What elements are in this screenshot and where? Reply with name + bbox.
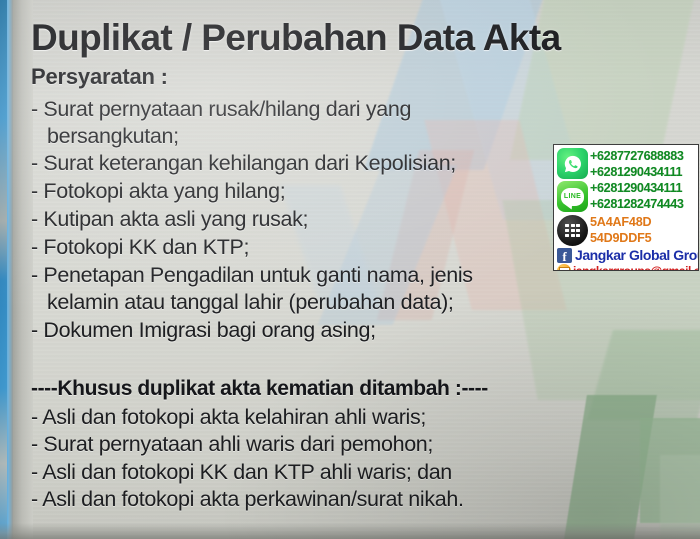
poster-photo: Duplikat / Perubahan Data Akta Persyarat… bbox=[0, 0, 700, 539]
requirement-item: - Penetapan Pengadilan untuk ganti nama,… bbox=[31, 263, 473, 288]
contact-overlay-box: LINE f +6287727688883 +6281290434111 +62… bbox=[553, 144, 699, 271]
requirement-item: kelamin atau tanggal lahir (perubahan da… bbox=[47, 290, 454, 315]
requirement-item: - Kutipan akta asli yang rusak; bbox=[31, 207, 308, 232]
requirement-item: bersangkutan; bbox=[47, 124, 179, 149]
phone-number: +6287727688883 bbox=[590, 149, 684, 163]
requirement-item: - Fotokopi KK dan KTP; bbox=[31, 235, 249, 260]
requirement-item: - Surat keterangan kehilangan dari Kepol… bbox=[31, 151, 456, 176]
bbm-pin: 54D9DDF5 bbox=[590, 231, 651, 245]
extra-requirement-item: - Asli dan fotokopi akta kelahiran ahli … bbox=[31, 405, 426, 430]
blackberry-messenger-icon bbox=[557, 215, 588, 246]
extra-requirement-item: - Asli dan fotokopi akta perkawinan/sura… bbox=[31, 487, 464, 512]
facebook-icon: f bbox=[557, 248, 572, 263]
line-icon-label: LINE bbox=[564, 193, 581, 200]
facebook-icon-glyph: f bbox=[562, 250, 566, 263]
phone-number: +6281282474443 bbox=[590, 197, 684, 211]
email-address: jangkargroups@gmail.com bbox=[573, 264, 699, 271]
section-heading: ----Khusus duplikat akta kematian ditamb… bbox=[31, 377, 488, 401]
extra-requirement-item: - Surat pernyataan ahli waris dari pemoh… bbox=[31, 432, 433, 457]
page-title: Duplikat / Perubahan Data Akta bbox=[31, 17, 561, 59]
facebook-page-name: Jangkar Global Groups bbox=[575, 247, 699, 263]
requirement-item: - Fotokopi akta yang hilang; bbox=[31, 179, 285, 204]
whatsapp-icon bbox=[557, 148, 588, 179]
bbm-pin: 5A4AF48D bbox=[590, 215, 651, 229]
phone-number: +6281290434111 bbox=[590, 165, 682, 179]
requirement-item: - Dokumen Imigrasi bagi orang asing; bbox=[31, 318, 376, 343]
requirement-item: - Surat pernyataan rusak/hilang dari yan… bbox=[31, 97, 411, 122]
line-icon: LINE bbox=[557, 181, 588, 212]
requirements-heading: Persyaratan : bbox=[31, 64, 168, 90]
phone-number: +6281290434111 bbox=[590, 181, 682, 195]
extra-requirement-item: - Asli dan fotokopi KK dan KTP ahli wari… bbox=[31, 460, 452, 485]
email-icon bbox=[557, 264, 571, 271]
